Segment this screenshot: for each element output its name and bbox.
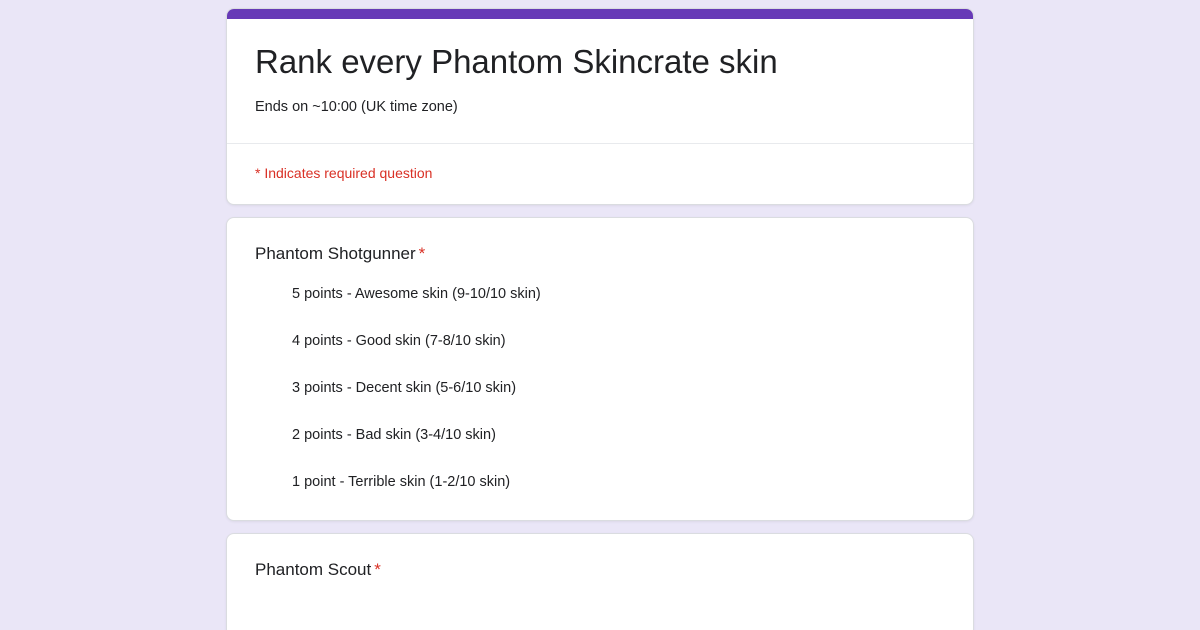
question-card-phantom-scout: Phantom Scout* bbox=[226, 533, 974, 630]
question-option-list: 5 points - Awesome skin (9-10/10 skin) 4… bbox=[255, 284, 945, 492]
option-item[interactable]: 1 point - Terrible skin (1-2/10 skin) bbox=[292, 472, 945, 492]
option-item[interactable]: 4 points - Good skin (7-8/10 skin) bbox=[292, 331, 945, 351]
form-title: Rank every Phantom Skincrate skin bbox=[255, 41, 945, 83]
required-note-row: * Indicates required question bbox=[227, 144, 973, 204]
required-asterisk: * bbox=[374, 560, 381, 579]
question-title: Phantom Scout* bbox=[255, 558, 945, 582]
required-question-note: * Indicates required question bbox=[255, 164, 945, 182]
required-asterisk: * bbox=[419, 244, 426, 263]
form-accent-stripe bbox=[227, 9, 973, 19]
form-description: Ends on ~10:00 (UK time zone) bbox=[255, 97, 945, 117]
form-header-body: Rank every Phantom Skincrate skin Ends o… bbox=[227, 19, 973, 143]
option-item[interactable]: 3 points - Decent skin (5-6/10 skin) bbox=[292, 378, 945, 398]
option-item[interactable]: 5 points - Awesome skin (9-10/10 skin) bbox=[292, 284, 945, 304]
question-title: Phantom Shotgunner* bbox=[255, 242, 945, 266]
form-header-card: Rank every Phantom Skincrate skin Ends o… bbox=[226, 8, 974, 205]
form-column: Rank every Phantom Skincrate skin Ends o… bbox=[226, 8, 974, 630]
google-form-page: Rank every Phantom Skincrate skin Ends o… bbox=[0, 0, 1200, 630]
question-title-text: Phantom Scout bbox=[255, 560, 371, 579]
question-title-text: Phantom Shotgunner bbox=[255, 244, 416, 263]
question-card-phantom-shotgunner: Phantom Shotgunner* 5 points - Awesome s… bbox=[226, 217, 974, 521]
option-item[interactable]: 2 points - Bad skin (3-4/10 skin) bbox=[292, 425, 945, 445]
